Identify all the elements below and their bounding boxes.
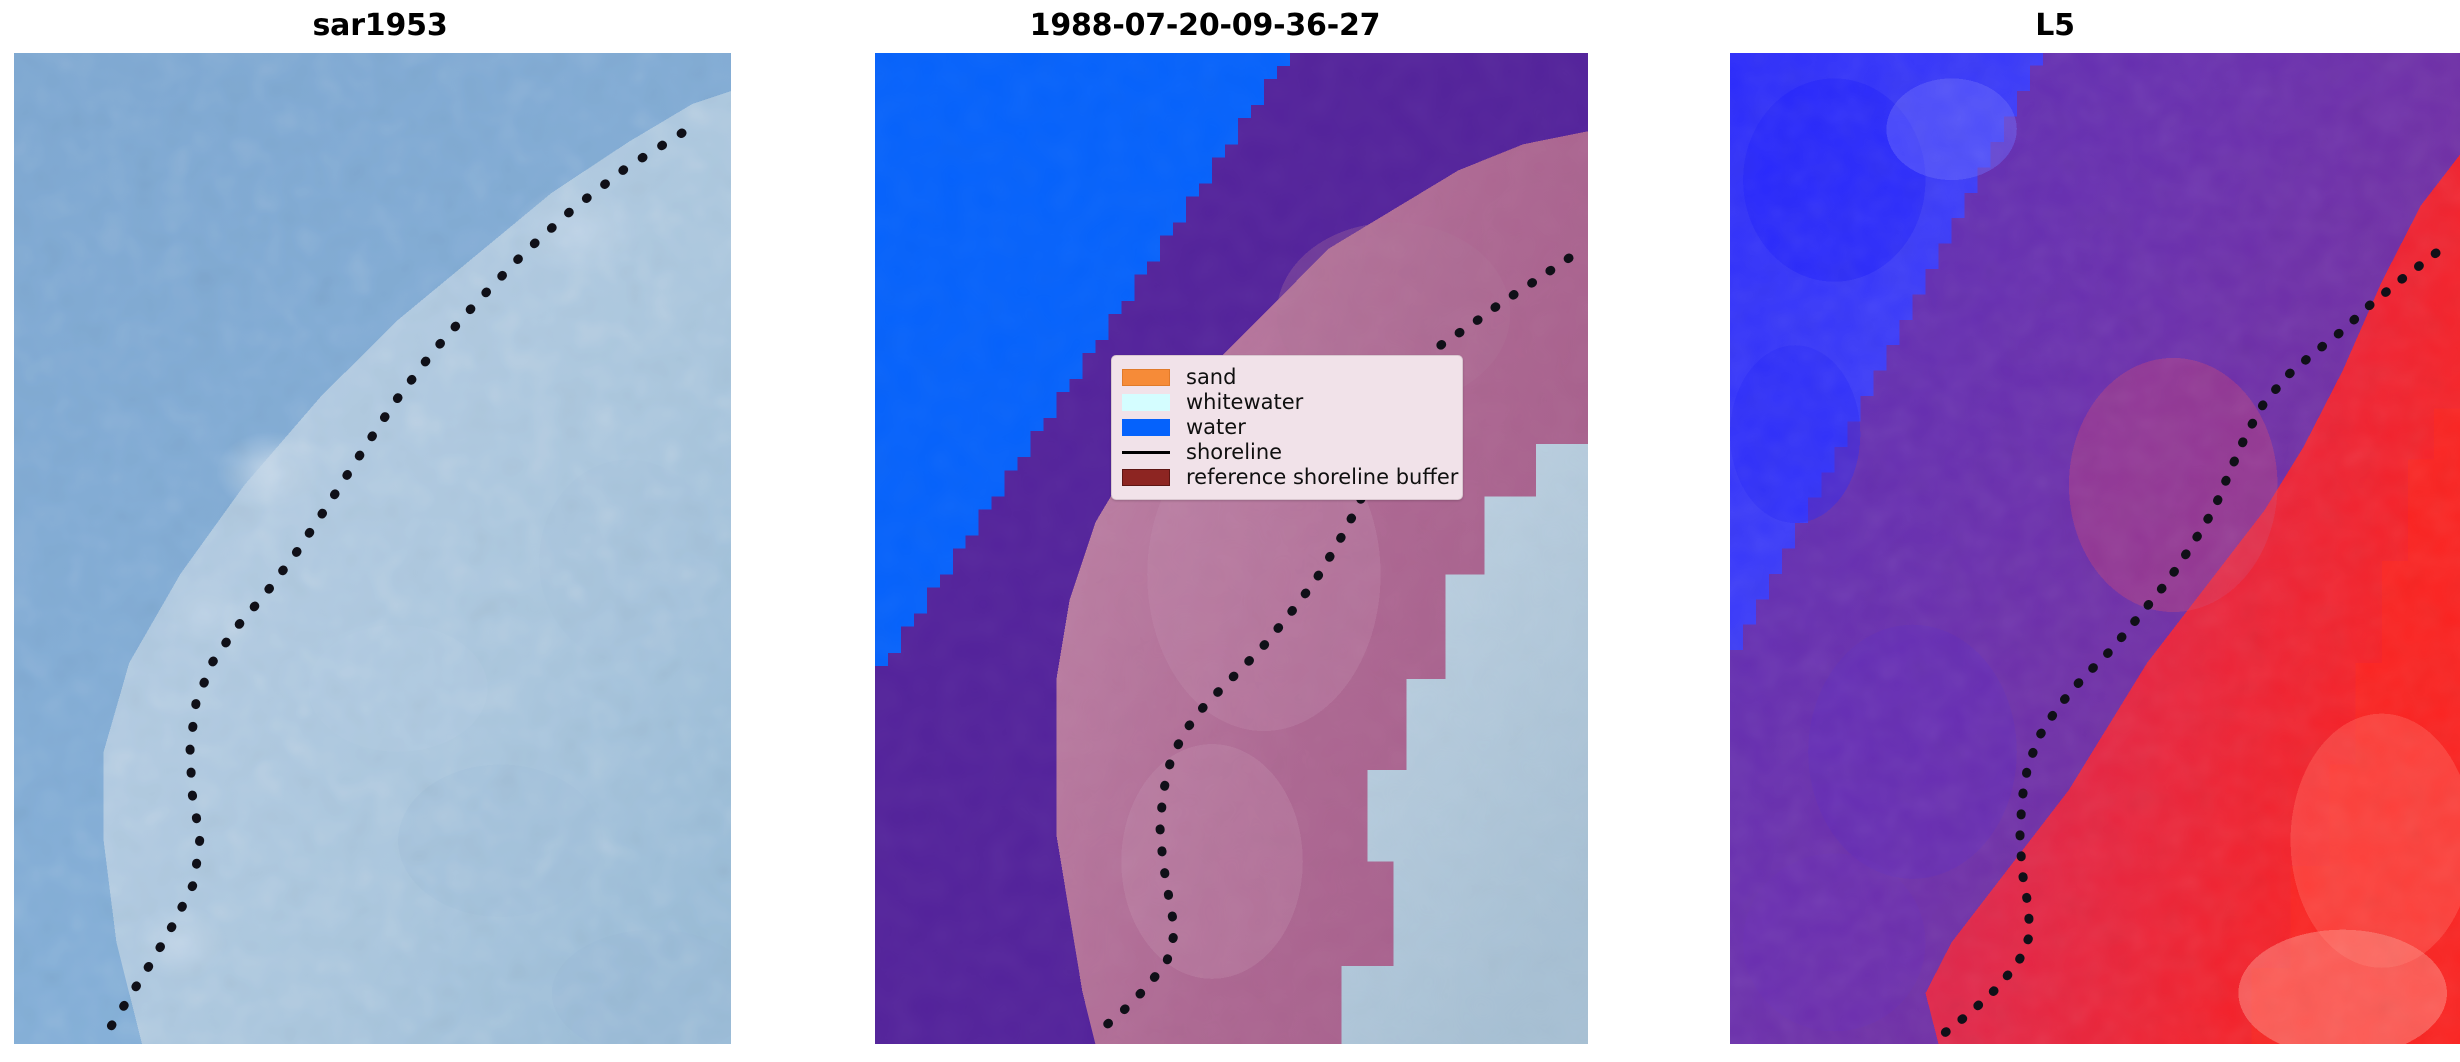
legend-item-reference-shoreline-buffer: reference shoreline buffer: [1122, 465, 1450, 490]
figure-root: sar1953: [0, 0, 2460, 1062]
sar1953-shoreline-dotted: [14, 53, 731, 1044]
legend-item-whitewater: whitewater: [1122, 390, 1450, 415]
legend-item-sand: sand: [1122, 365, 1450, 390]
panel-title-sar1953: sar1953: [0, 0, 760, 50]
panel-sar1953: sar1953: [0, 0, 760, 1062]
panel-title-classification: 1988-07-20-09-36-27: [760, 0, 1650, 50]
shoreline-swatch: [1122, 451, 1170, 454]
legend-label-water: water: [1186, 417, 1246, 438]
whitewater-swatch: [1122, 394, 1170, 411]
classification-shoreline-dotted: [875, 53, 1588, 1044]
legend-label-shoreline: shoreline: [1186, 442, 1282, 463]
legend-box: sand whitewater water shoreline referenc…: [1111, 355, 1463, 500]
panel-title-l5: L5: [1650, 0, 2460, 50]
reference-shoreline-buffer-swatch: [1122, 469, 1170, 486]
legend-label-whitewater: whitewater: [1186, 392, 1303, 413]
legend-label-reference-shoreline-buffer: reference shoreline buffer: [1186, 467, 1458, 488]
water-swatch: [1122, 419, 1170, 436]
axes-l5: [1730, 53, 2460, 1044]
l5-shoreline-dotted: [1730, 53, 2460, 1044]
axes-classification: sand whitewater water shoreline referenc…: [875, 53, 1588, 1044]
panel-l5: L5: [1650, 0, 2460, 1062]
sand-swatch: [1122, 369, 1170, 386]
legend-label-sand: sand: [1186, 367, 1236, 388]
legend-item-water: water: [1122, 415, 1450, 440]
panel-classification: 1988-07-20-09-36-27: [760, 0, 1650, 1062]
axes-sar1953: [14, 53, 731, 1044]
legend-item-shoreline: shoreline: [1122, 440, 1450, 465]
